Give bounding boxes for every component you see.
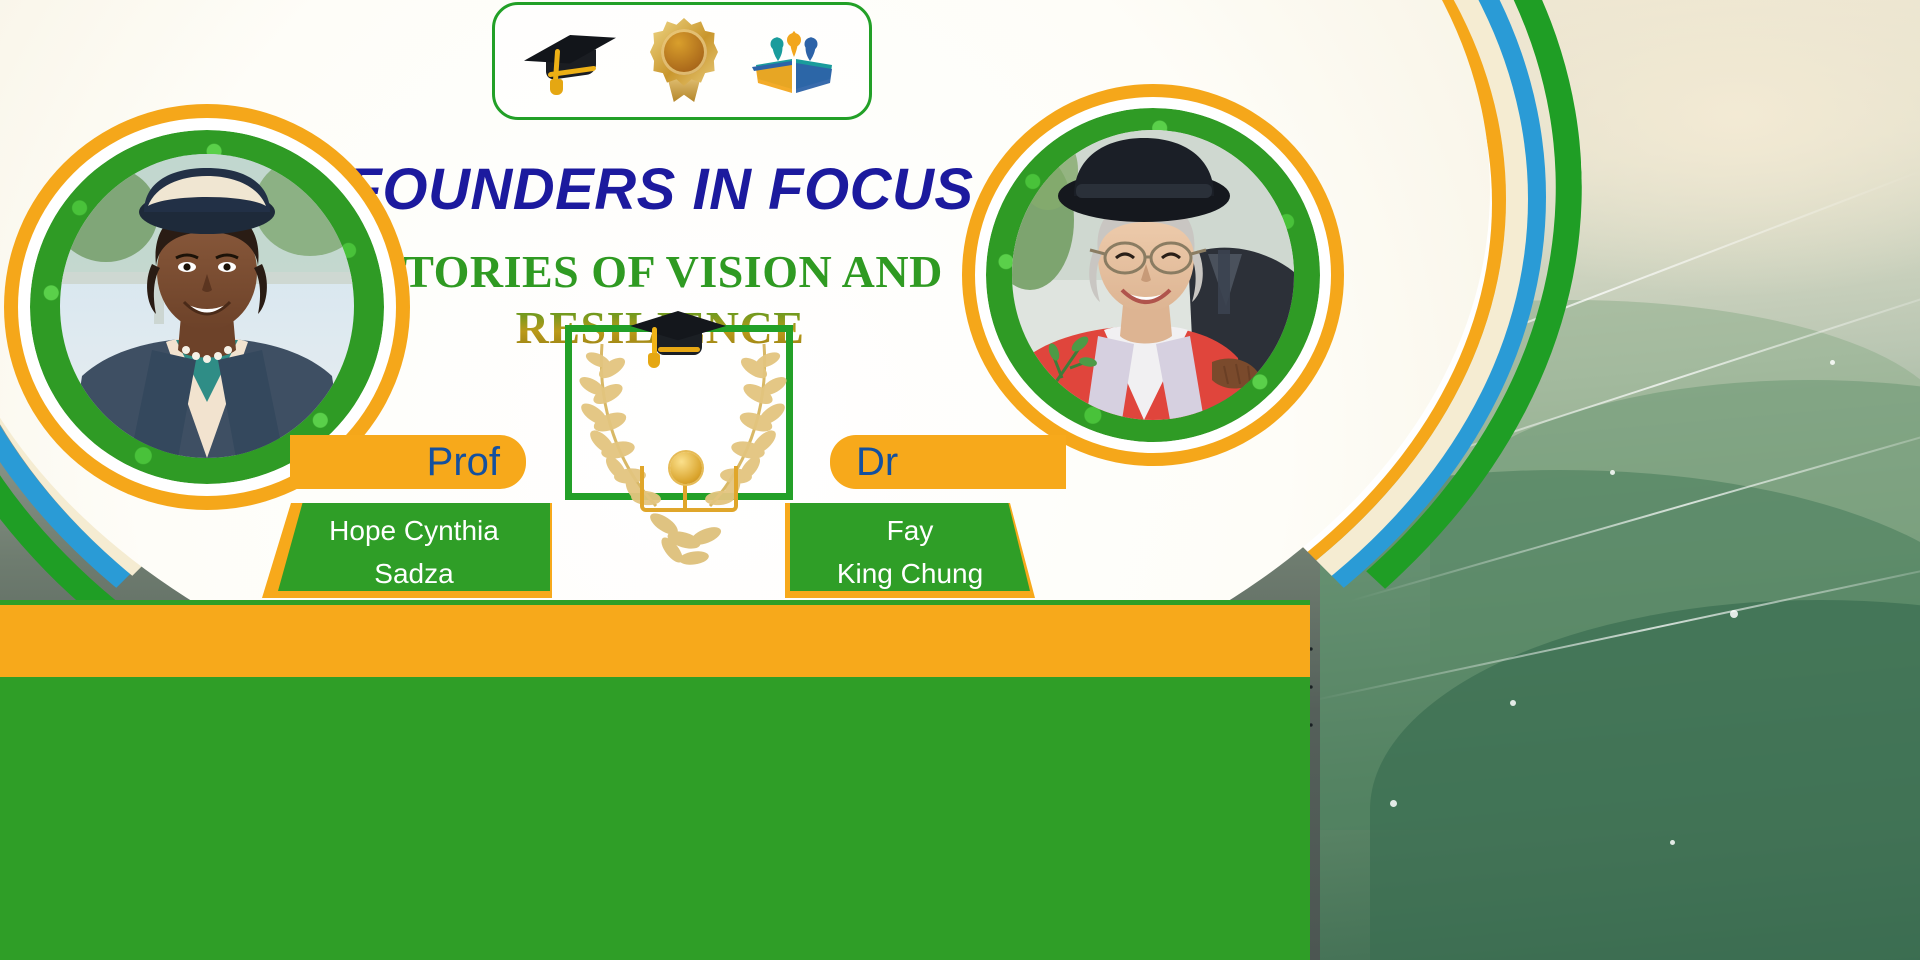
graduation-cap-icon xyxy=(524,29,620,93)
graduation-cap-icon xyxy=(630,307,730,369)
open-book-people-logo xyxy=(748,27,840,95)
emblem-bar xyxy=(492,2,872,120)
name-line-2-right: King Chung xyxy=(790,552,1030,595)
name-panel-left: Hope Cynthia Sadza xyxy=(278,503,550,591)
name-line-1-right: Fay xyxy=(790,509,1030,552)
sparkle-dot xyxy=(1670,840,1675,845)
book-medal-icon xyxy=(640,452,730,510)
avatar-dr-fay-king-chung xyxy=(962,84,1344,466)
photo-dr-fay-king-chung xyxy=(1012,130,1294,420)
role-badge-left: Prof xyxy=(290,435,526,489)
poster-canvas: FOUNDERS IN FOCUS STORIES OF VISION AND … xyxy=(0,0,1920,960)
gold-rosette-icon xyxy=(647,18,721,104)
name-line-1-left: Hope Cynthia xyxy=(278,509,550,552)
name-line-2-left: Sadza xyxy=(278,552,550,595)
role-label-left: Prof xyxy=(427,440,500,485)
sparkle-dot xyxy=(1830,360,1835,365)
sparkle-dot xyxy=(1390,800,1397,807)
bottom-band-orange xyxy=(0,605,1310,677)
subtitle-line-1: STORIES OF VISION AND xyxy=(360,244,960,300)
sparkle-dot xyxy=(1730,610,1738,618)
role-label-right: Dr xyxy=(856,440,898,485)
role-badge-right: Dr xyxy=(830,435,1066,489)
bottom-band-green xyxy=(0,677,1310,960)
sparkle-dot xyxy=(1510,700,1516,706)
photo-prof-hope-cynthia-sadza xyxy=(60,154,354,458)
sparkle-dot xyxy=(1610,470,1615,475)
name-panel-right: Fay King Chung xyxy=(790,503,1030,591)
